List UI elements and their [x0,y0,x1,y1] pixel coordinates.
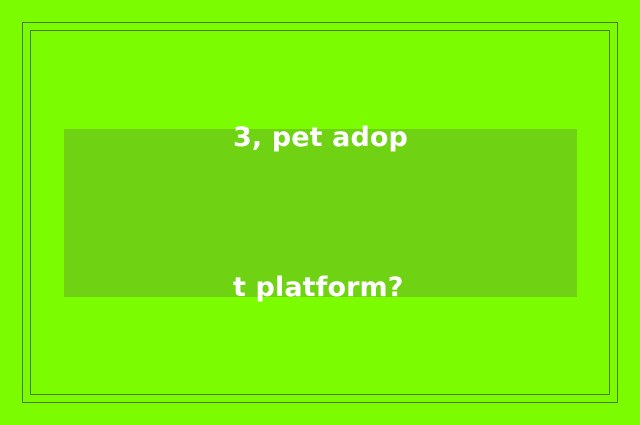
headline-text-block: 3, pet adop t platform? [233,13,408,413]
content-panel: 3, pet adop t platform? [64,129,577,297]
headline-line-1: 3, pet adop [233,113,408,163]
slide-canvas: 3, pet adop t platform? [0,0,640,425]
headline-line-2: t platform? [233,263,408,313]
